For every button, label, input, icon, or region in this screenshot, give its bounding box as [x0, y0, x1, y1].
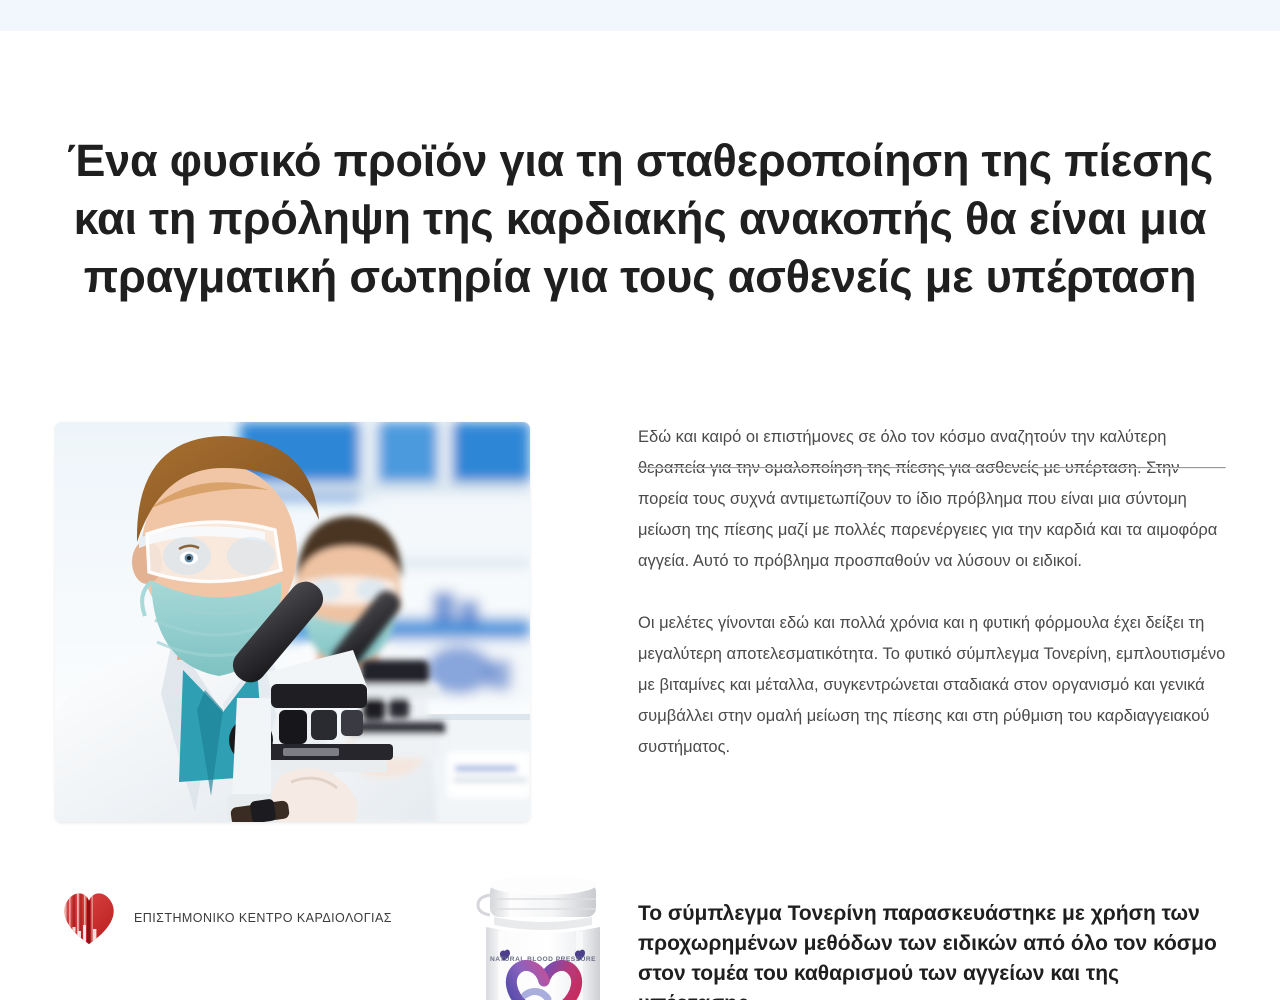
- product-bottle-illustration: NATURAL BLOOD PRESSURE: [468, 869, 618, 1000]
- page-title: Ένα φυσικό προϊόν για τη σταθεροποίηση τ…: [40, 132, 1240, 306]
- cardiology-center-name: ΕΠΙΣΤΗΜΟΝΙΚΟ ΚΕΝΤΡΟ ΚΑΡΔΙΟΛΟΓΙΑΣ: [134, 911, 392, 925]
- page-body: Ένα φυσικό προϊόν για τη σταθεροποίηση τ…: [0, 31, 1280, 1000]
- article-paragraph-2: Οι μελέτες γίνονται εδώ και πολλά χρόνια…: [638, 608, 1226, 763]
- svg-text:NATURAL BLOOD PRESSURE: NATURAL BLOOD PRESSURE: [490, 956, 596, 963]
- article-paragraph-1: Εδώ και καιρό οι επιστήμονες σε όλο τον …: [638, 422, 1226, 577]
- left-column: [55, 422, 530, 822]
- lab-photo-illustration: [55, 422, 530, 822]
- striped-heart-logo-icon: [58, 887, 120, 949]
- bench-items: [447, 752, 530, 798]
- right-column: Εδώ και καιρό οι επιστήμονες σε όλο τον …: [638, 422, 1226, 763]
- top-accent-band: [0, 0, 1280, 31]
- product-bottle: NATURAL BLOOD PRESSURE: [468, 869, 618, 1000]
- section-divider: [638, 467, 1226, 469]
- endorsement-claim: Το σύμπλεγμα Τονερίνη παρασκευάστηκε με …: [638, 899, 1238, 1000]
- endorsement-section: ΕΠΙΣΤΗΜΟΝΙΚΟ ΚΕΝΤΡΟ ΚΑΡΔΙΟΛΟΓΙΑΣ: [0, 859, 1280, 1000]
- lab-photo: [55, 422, 530, 822]
- cardiology-center-lockup: ΕΠΙΣΤΗΜΟΝΙΚΟ ΚΕΝΤΡΟ ΚΑΡΔΙΟΛΟΓΙΑΣ: [58, 887, 392, 949]
